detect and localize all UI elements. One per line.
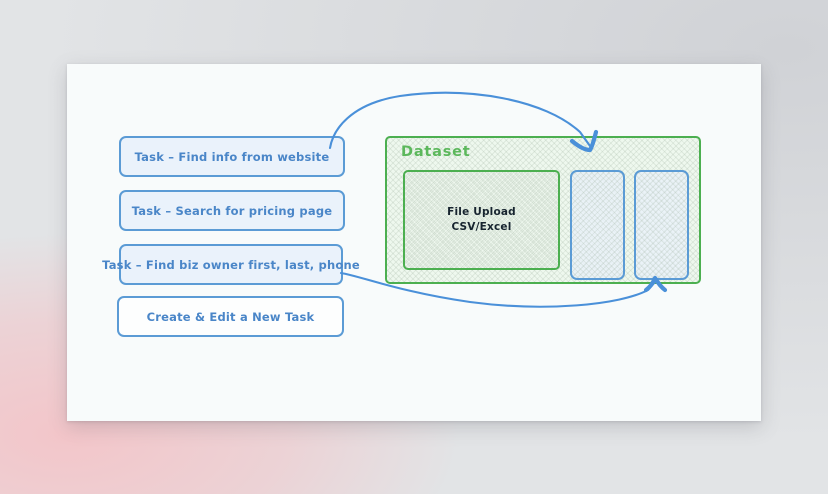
- dataset-column-2[interactable]: [634, 170, 689, 280]
- task-box-find-info-from-website[interactable]: Task – Find info from website: [119, 136, 345, 177]
- file-upload-line-1: File Upload: [447, 205, 516, 220]
- file-upload-dropzone[interactable]: File Upload CSV/Excel: [403, 170, 560, 270]
- task-box-label: Task – Search for pricing page: [132, 204, 333, 218]
- task-box-create-and-edit-new-task[interactable]: Create & Edit a New Task: [117, 296, 344, 337]
- task-box-search-for-pricing-page[interactable]: Task – Search for pricing page: [119, 190, 345, 231]
- dataset-panel: Dataset File Upload CSV/Excel: [385, 136, 701, 284]
- task-box-label: Task – Find info from website: [135, 150, 330, 164]
- file-upload-line-2: CSV/Excel: [451, 220, 511, 235]
- dataset-title: Dataset: [401, 144, 471, 160]
- task-box-find-biz-owner[interactable]: Task – Find biz owner first, last, phone: [119, 244, 343, 285]
- canvas-card: Task – Find info from website Task – Sea…: [67, 64, 761, 421]
- dataset-column-1[interactable]: [570, 170, 625, 280]
- diagram-stage: Task – Find info from website Task – Sea…: [0, 0, 828, 494]
- task-box-label: Create & Edit a New Task: [147, 310, 315, 324]
- task-box-label: Task – Find biz owner first, last, phone: [102, 258, 360, 272]
